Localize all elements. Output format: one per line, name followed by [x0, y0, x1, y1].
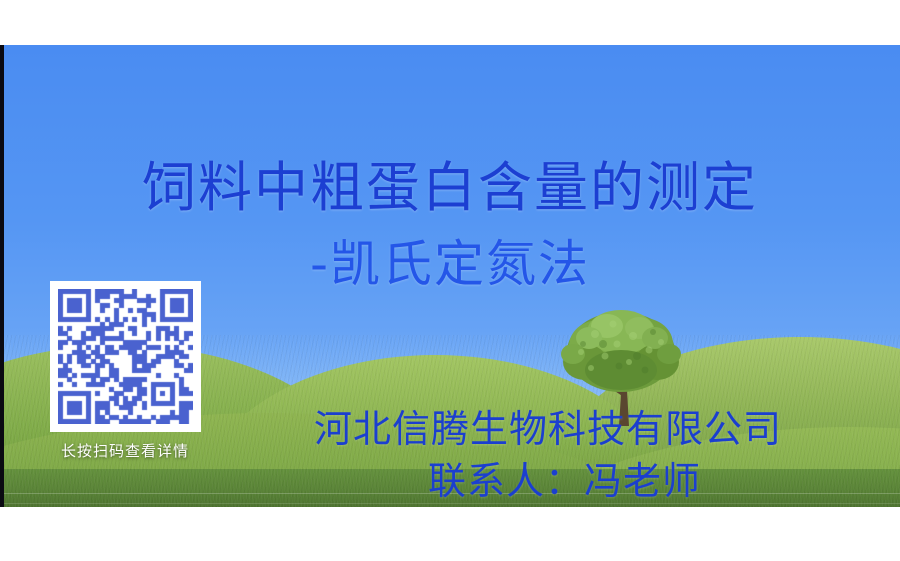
company-info-block: 河北信腾生物科技有限公司 联系人：冯老师 联系电话：13520054632	[300, 403, 900, 507]
video-player-stage[interactable]: 饲料中粗蛋白含量的测定 -凯氏定氮法 河北信腾生物科技有限公司 联系人：冯老师 …	[0, 45, 900, 507]
contact-person: 联系人：冯老师	[428, 455, 900, 507]
left-bezel-strip	[0, 45, 4, 507]
top-letterbox	[0, 0, 900, 45]
company-name: 河北信腾生物科技有限公司	[314, 403, 900, 455]
slide-title-main: 饲料中粗蛋白含量的测定	[0, 157, 900, 219]
qr-caption: 长按扫码查看详情	[30, 441, 220, 461]
page-root: 饲料中粗蛋白含量的测定 -凯氏定氮法 河北信腾生物科技有限公司 联系人：冯老师 …	[0, 0, 900, 561]
qr-code-panel[interactable]	[50, 281, 201, 432]
bottom-letterbox	[0, 507, 900, 561]
qr-code-icon[interactable]	[58, 289, 193, 424]
